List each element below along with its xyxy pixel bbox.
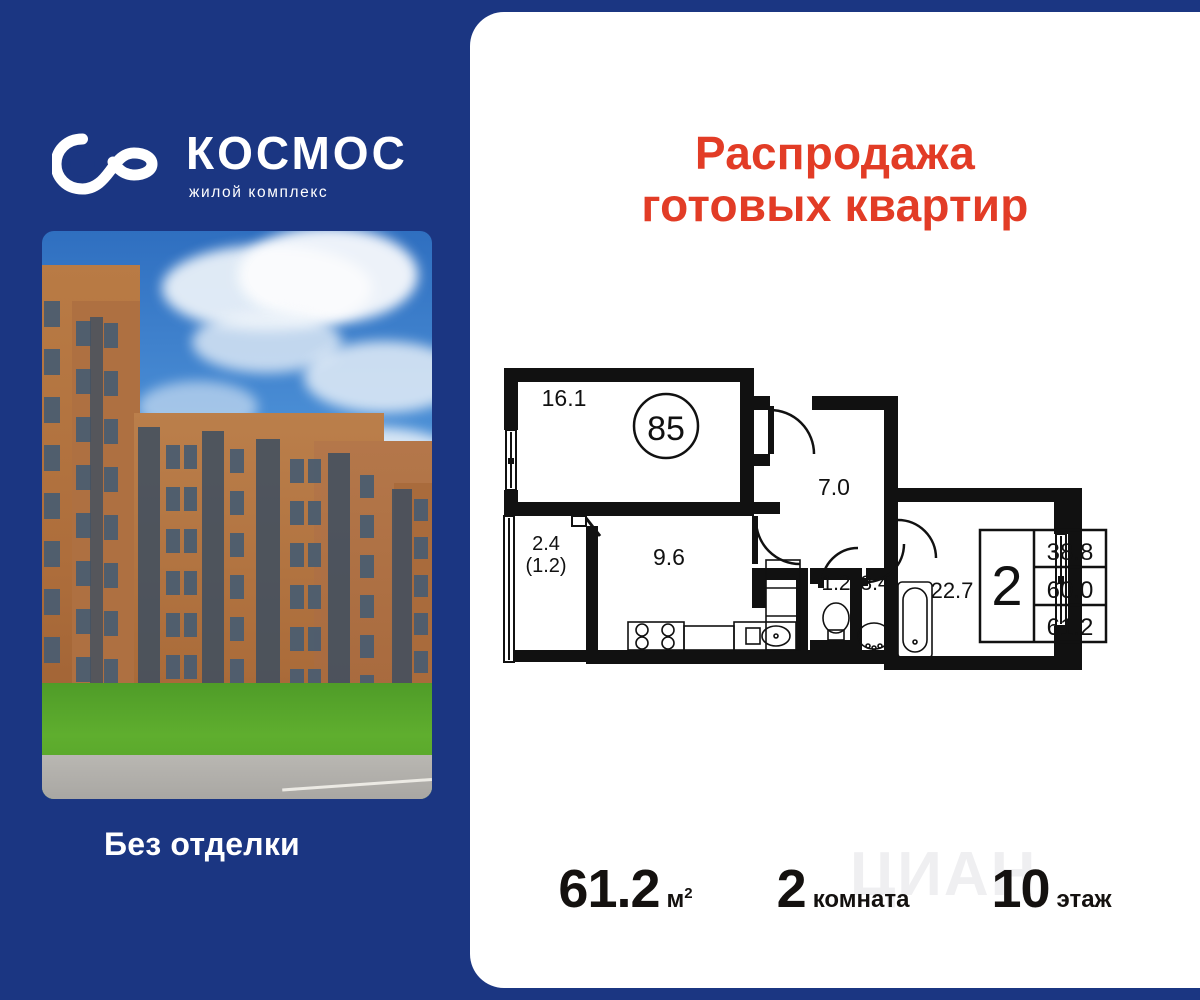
total-area-value: 61.2: [1047, 614, 1094, 641]
summary-floor-value: 10: [991, 862, 1049, 916]
areas-info-box: 2 38.8 60.0 61.2: [980, 530, 1106, 642]
floor-plan: 85 16.1 2.4 (1.2) 9.6 7.0 1.2 3.4 22.7 2…: [494, 350, 1174, 730]
summary-rooms-value: 2: [777, 862, 806, 916]
brand-subtitle: жилой комплекс: [189, 185, 408, 201]
living-room-area-label: 16.1: [542, 385, 587, 411]
infinity-logo-icon: [52, 133, 168, 195]
finish-caption: Без отделки: [104, 826, 300, 863]
left-brand-panel: КОСМОС жилой комплекс: [0, 0, 470, 1000]
summary-area-value: 61.2: [558, 862, 659, 916]
brand-title: КОСМОС: [186, 130, 408, 176]
road: [42, 755, 432, 799]
promo-headline-line2: готовых квартир: [470, 180, 1200, 232]
balcony-area-coefficient-label: (1.2): [525, 555, 566, 577]
brand-lockup: КОСМОС жилой комплекс: [52, 118, 442, 210]
kitchen-area-label: 9.6: [653, 544, 685, 570]
brand-text: КОСМОС жилой комплекс: [186, 128, 408, 201]
hallway-area-label: 7.0: [818, 474, 850, 500]
apartment-number: 85: [647, 410, 685, 448]
bathroom-area-label: 3.4: [860, 572, 890, 595]
summary-bar: 61.2 м2 2 комната 10 этаж: [470, 824, 1200, 916]
summary-floor-label: этаж: [1057, 888, 1112, 912]
listing-card: КОСМОС жилой комплекс: [0, 0, 1200, 1000]
balcony-area-label: 2.4: [532, 533, 560, 555]
summary-area-unit: м2: [667, 886, 693, 912]
rooms-count-badge: 2: [991, 554, 1022, 617]
summary-rooms: 2 комната: [777, 862, 910, 916]
promo-headline-line1: Распродажа: [470, 128, 1200, 180]
living-area-value: 38.8: [1047, 539, 1094, 566]
area-without-balcony-value: 60.0: [1047, 577, 1094, 604]
summary-floor: 10 этаж: [991, 862, 1111, 916]
summary-area-unit-sup: 2: [684, 885, 692, 902]
second-room-area-label: 22.7: [931, 578, 974, 603]
plan-card: Распродажа готовых квартир: [470, 12, 1200, 988]
promo-headline: Распродажа готовых квартир: [470, 128, 1200, 231]
toilet-area-label: 1.2: [821, 572, 850, 595]
road-marking: [282, 778, 432, 791]
building-photo: [42, 231, 432, 799]
summary-rooms-label: комната: [813, 888, 910, 912]
summary-area: 61.2 м2: [558, 862, 692, 916]
